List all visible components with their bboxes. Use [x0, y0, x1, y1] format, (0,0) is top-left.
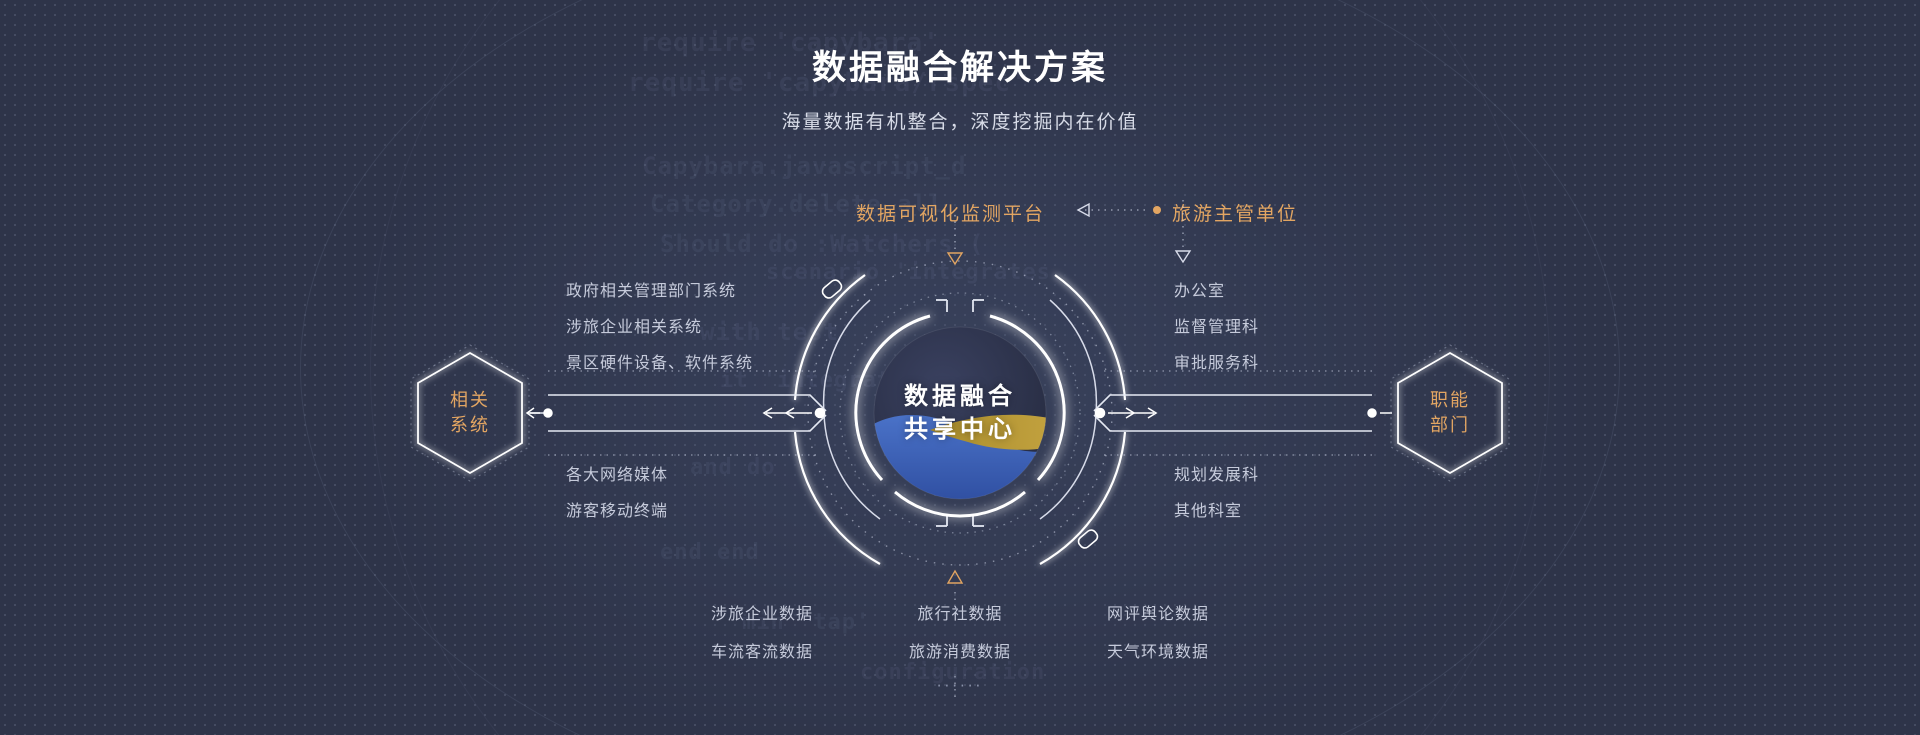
page-subtitle: 海量数据有机整合，深度挖掘内在价值: [0, 107, 1920, 134]
header: 数据融合解决方案 海量数据有机整合，深度挖掘内在价值: [0, 40, 1920, 134]
left-hexagon-outline: [418, 353, 522, 473]
top-left-arrow-marker: [948, 253, 962, 264]
right-trunk-arrow: [1368, 409, 1392, 417]
bottom-arrow-marker: [948, 571, 962, 583]
left-flow-arrow: [764, 408, 825, 418]
right-hexagon-outline: [1398, 353, 1502, 473]
page-title: 数据融合解决方案: [0, 40, 1920, 89]
left-trunk-arrow: [527, 408, 552, 418]
center-sphere-waves: [860, 415, 1062, 510]
top-right-arrow-marker: [1176, 251, 1190, 262]
right-hexagon-outline-dashed: [1391, 345, 1509, 481]
left-hexagon-outline-dashed: [411, 345, 529, 481]
top-link-dot-right: [1153, 206, 1161, 214]
top-link-arrow-left: [1078, 204, 1089, 216]
right-flow-arrow: [1096, 408, 1157, 418]
